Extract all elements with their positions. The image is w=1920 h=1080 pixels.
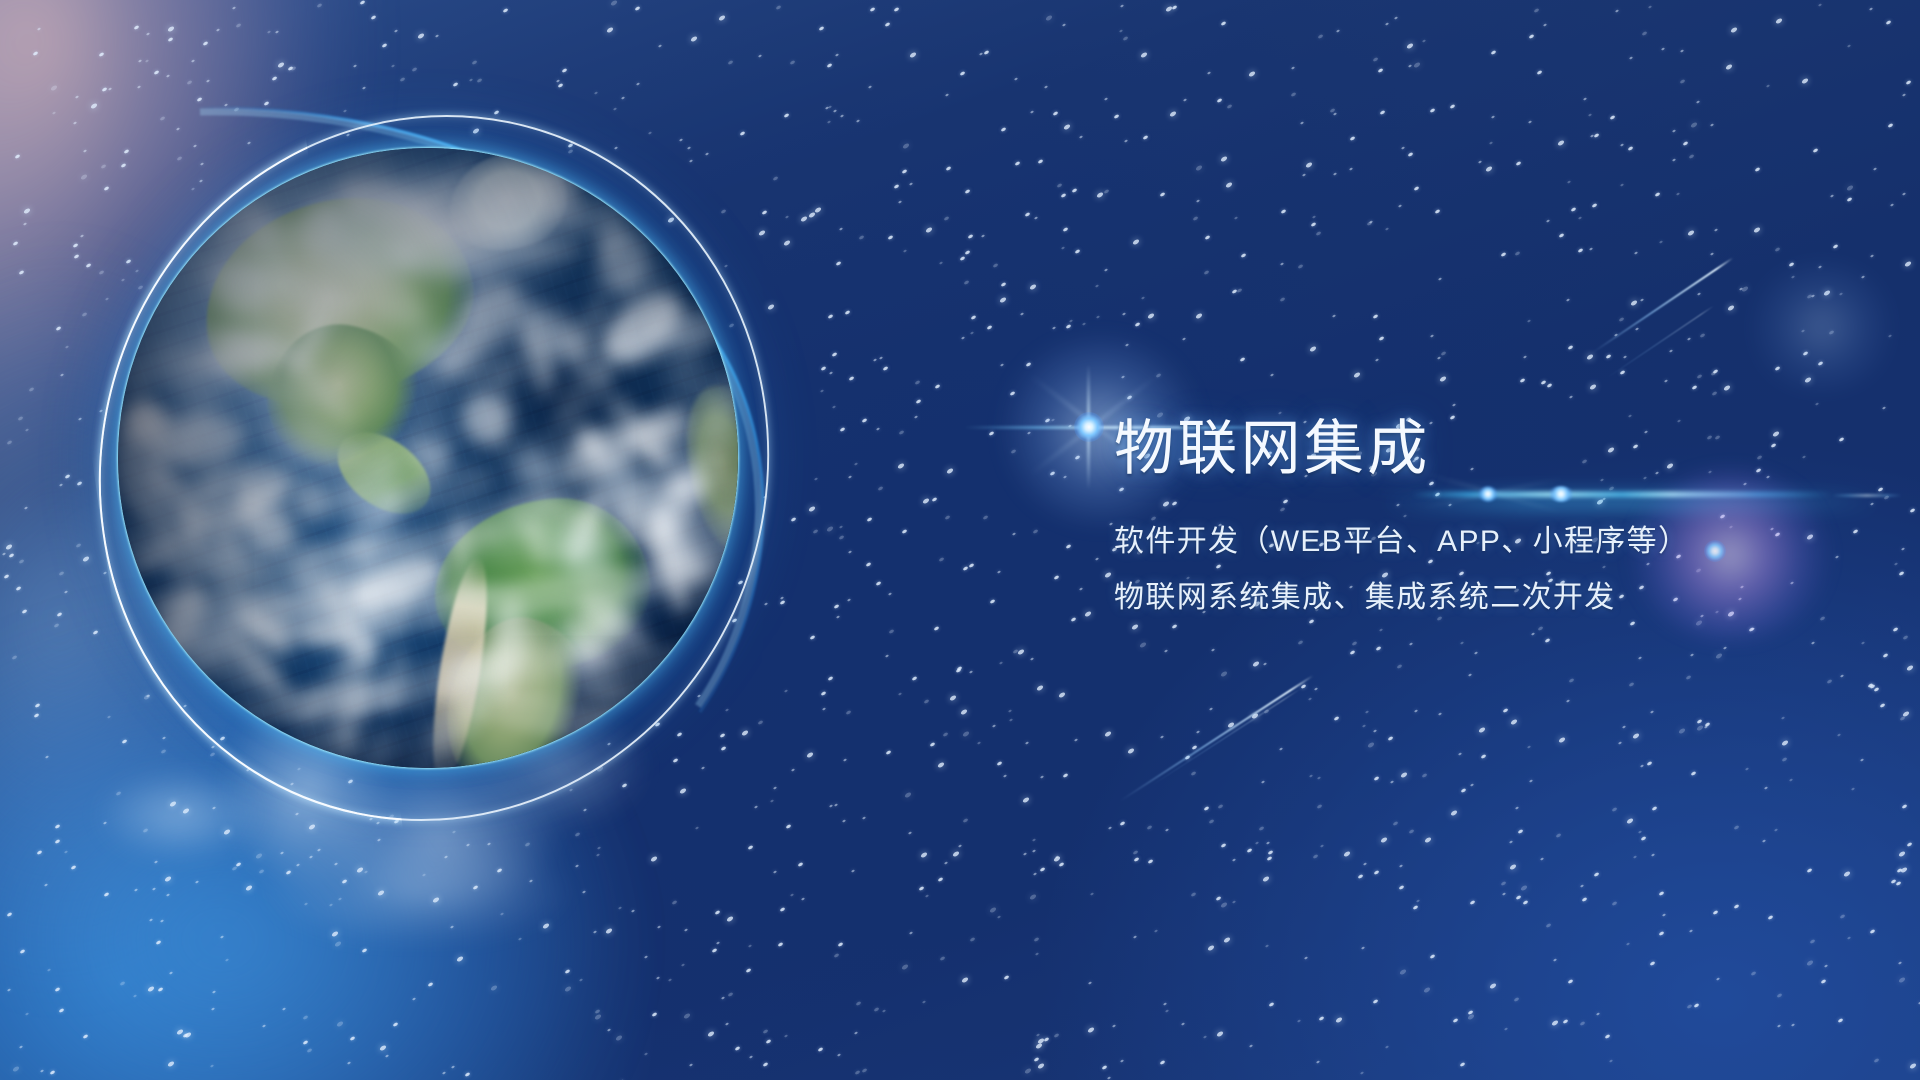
subtitle-line-2: 物联网系统集成、集成系统二次开发 — [1114, 570, 1874, 626]
subtitle-line-1: 软件开发（WEB平台、APP、小程序等） — [1114, 514, 1874, 570]
hero-banner: 物联网集成 软件开发（WEB平台、APP、小程序等） 物联网系统集成、集成系统二… — [0, 0, 1920, 1080]
page-title: 物联网集成 — [1114, 418, 1874, 480]
banner-copy: 物联网集成 软件开发（WEB平台、APP、小程序等） 物联网系统集成、集成系统二… — [1114, 418, 1874, 626]
